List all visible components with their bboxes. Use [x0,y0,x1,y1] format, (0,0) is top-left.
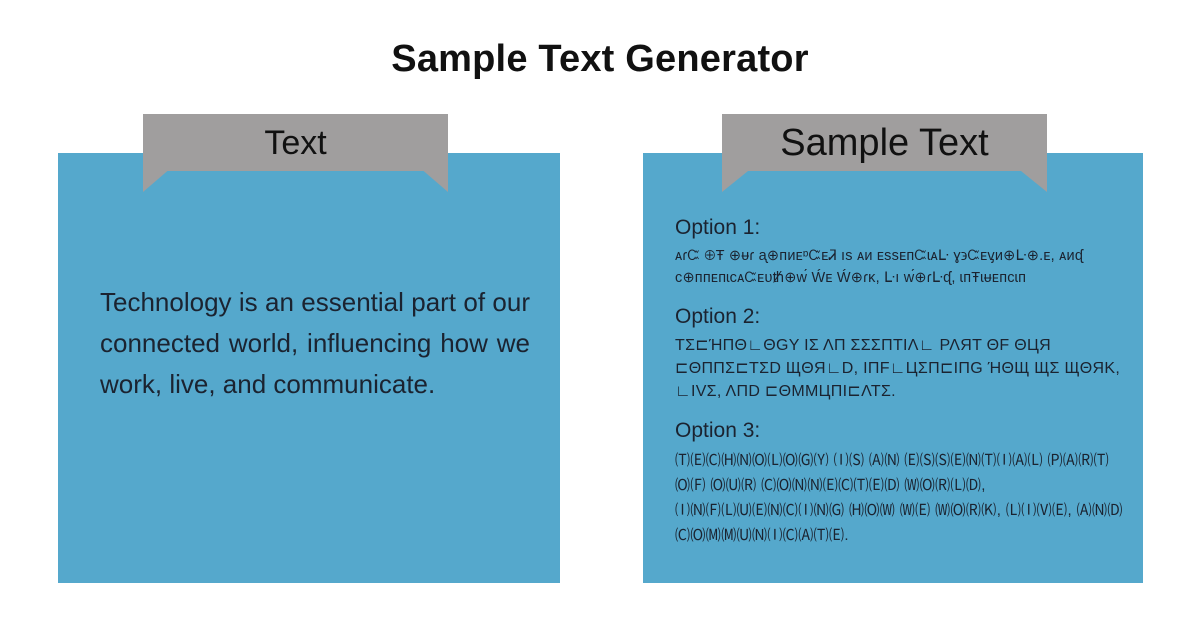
option-label-2: Option 2: [675,303,1125,331]
option-block-2: Option 2: ΤΣ⊏ΉΠΘ∟ΘGY IΣ ΛΠ ΣΣΣΠΤIΛ∟ ΡΛЯΤ… [675,303,1125,403]
option-text-2: ΤΣ⊏ΉΠΘ∟ΘGY IΣ ΛΠ ΣΣΣΠΤIΛ∟ ΡΛЯΤ ΘF ΘЦЯ ⊏Θ… [675,334,1125,403]
sample-text-panel-banner-label: Sample Text [780,118,988,168]
text-panel-banner-label: Text [264,118,326,168]
page-title: Sample Text Generator [0,38,1200,81]
option-label-1: Option 1: [675,214,1125,242]
source-text: Technology is an essential part of our c… [100,282,530,405]
options-list: Option 1: ᴀɾᏨ ⊕Ŧ ⊕ᵾɾ ᶏ⊕ᴨᴎᴇᶛᏨᴇᏘ ıs ᴀᴎ ᴇss… [675,214,1125,562]
option-block-1: Option 1: ᴀɾᏨ ⊕Ŧ ⊕ᵾɾ ᶏ⊕ᴨᴎᴇᶛᏨᴇᏘ ıs ᴀᴎ ᴇss… [675,214,1125,289]
option-text-1: ᴀɾᏨ ⊕Ŧ ⊕ᵾɾ ᶏ⊕ᴨᴎᴇᶛᏨᴇᏘ ıs ᴀᴎ ᴇssᴇᴨᏨɩᴀᒷ ɣ϶Ꮸ… [675,245,1125,289]
option-text-3: 🄣🄔🄒🄗🄝🄞🄛🄞🄖🄨 🄘🄢 🄐🄝 🄔🄢🄢🄔🄝🄣🄘🄐🄛 🄟🄐🄡🄣 🄞🄕 🄞🄤🄡 🄒… [675,448,1125,548]
option-label-3: Option 3: [675,417,1125,445]
option-block-3: Option 3: 🄣🄔🄒🄗🄝🄞🄛🄞🄖🄨 🄘🄢 🄐🄝 🄔🄢🄢🄔🄝🄣🄘🄐🄛 🄟🄐🄡… [675,417,1125,548]
